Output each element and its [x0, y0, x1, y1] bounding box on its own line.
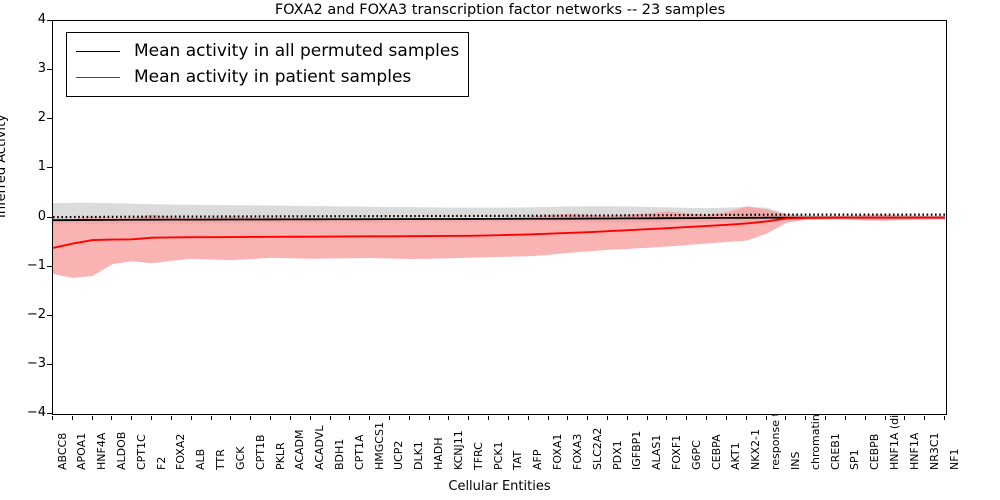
- x-tick-mark: [627, 416, 628, 420]
- y-tick-label: 4: [2, 13, 46, 26]
- x-tick-label: BDH1: [334, 439, 345, 470]
- legend-item-patient: Mean activity in patient samples: [76, 64, 459, 90]
- x-tick-mark: [924, 416, 925, 420]
- x-tick-label: ALB: [195, 449, 206, 470]
- x-tick-label: CPT1C: [136, 434, 147, 470]
- x-tick-mark: [151, 416, 152, 420]
- y-tick-label: −3: [2, 357, 46, 370]
- x-tick-label: ABCC8: [57, 433, 68, 470]
- x-tick-label: AKT1: [730, 442, 741, 470]
- x-tick-label: UCP2: [393, 441, 404, 470]
- x-tick-mark: [488, 416, 489, 420]
- x-tick-mark: [369, 416, 370, 420]
- y-tick-label: 1: [2, 160, 46, 173]
- x-tick-label: FOXA1: [552, 434, 563, 470]
- y-tick-label: −4: [2, 406, 46, 419]
- x-tick-mark: [666, 416, 667, 420]
- x-tick-mark: [191, 416, 192, 420]
- x-tick-label: NKX2-1: [750, 429, 761, 470]
- x-tick-mark: [607, 416, 608, 420]
- x-tick-label: ALDOB: [116, 432, 127, 470]
- x-tick-mark: [885, 416, 886, 420]
- x-tick-label: ACADM: [294, 430, 305, 471]
- x-tick-mark: [290, 416, 291, 420]
- x-tick-mark: [230, 416, 231, 420]
- legend-swatch-permuted: [76, 51, 120, 52]
- x-tick-mark: [349, 416, 350, 420]
- chart-legend: Mean activity in all permuted samples Me…: [66, 32, 469, 97]
- x-tick-mark: [865, 416, 866, 420]
- x-tick-mark: [409, 416, 410, 420]
- x-tick-label: CREB1: [830, 433, 841, 470]
- x-tick-label: G6PC: [691, 440, 702, 470]
- x-tick-label: ALAS1: [651, 435, 662, 470]
- x-tick-label: INS: [790, 452, 801, 470]
- x-tick-label: TFRC: [473, 442, 484, 470]
- x-tick-mark: [171, 416, 172, 420]
- x-tick-label: AFP: [532, 450, 543, 471]
- x-tick-mark: [72, 416, 73, 420]
- y-tick-label: −1: [2, 259, 46, 272]
- x-tick-mark: [548, 416, 549, 420]
- x-tick-label: GCK: [235, 447, 246, 470]
- x-tick-mark: [250, 416, 251, 420]
- x-axis-label: Cellular Entities: [52, 479, 947, 494]
- x-tick-label: PDX1: [612, 440, 623, 470]
- legend-label-patient: Mean activity in patient samples: [134, 67, 411, 87]
- x-tick-mark: [785, 416, 786, 420]
- x-tick-mark: [270, 416, 271, 420]
- x-tick-label: FOXA2: [175, 434, 186, 470]
- y-tick-label: 2: [2, 111, 46, 124]
- x-tick-mark: [567, 416, 568, 420]
- x-tick-label: DLK1: [413, 441, 424, 470]
- x-tick-label: CPT1B: [255, 434, 266, 470]
- x-tick-mark: [528, 416, 529, 420]
- x-tick-mark: [211, 416, 212, 420]
- x-tick-label: HNF1A: [909, 433, 920, 470]
- legend-label-permuted: Mean activity in all permuted samples: [134, 41, 459, 61]
- x-tick-label: TAT: [512, 451, 523, 470]
- y-axis-tick-labels: 43210−1−2−3−4: [0, 0, 46, 500]
- x-tick-label: TTR: [215, 449, 226, 470]
- x-tick-label: PKLR: [275, 442, 286, 470]
- x-tick-label: APOA1: [76, 433, 87, 470]
- x-tick-mark: [131, 416, 132, 420]
- x-tick-mark: [766, 416, 767, 420]
- x-tick-label: HMGCS1: [374, 422, 385, 470]
- x-tick-mark: [587, 416, 588, 420]
- x-tick-mark: [111, 416, 112, 420]
- legend-swatch-patient: [76, 77, 120, 78]
- x-tick-mark: [726, 416, 727, 420]
- x-tick-label: SP1: [849, 449, 860, 470]
- x-tick-mark: [706, 416, 707, 420]
- x-tick-mark: [825, 416, 826, 420]
- x-tick-label: F2: [156, 457, 167, 470]
- x-tick-mark: [944, 416, 945, 420]
- x-tick-mark: [468, 416, 469, 420]
- x-tick-label: CEBPB: [869, 434, 880, 470]
- x-tick-mark: [508, 416, 509, 420]
- x-tick-label: KCNJ11: [453, 430, 464, 470]
- x-tick-label: CPT1A: [354, 434, 365, 470]
- y-tick-label: −2: [2, 308, 46, 321]
- x-tick-mark: [647, 416, 648, 420]
- x-tick-label: NF1: [949, 448, 960, 470]
- y-tick-label: 0: [2, 210, 46, 223]
- x-tick-mark: [805, 416, 806, 420]
- x-tick-mark: [310, 416, 311, 420]
- x-tick-label: CEBPA: [711, 434, 722, 470]
- x-tick-mark: [746, 416, 747, 420]
- x-tick-mark: [92, 416, 93, 420]
- x-tick-mark: [904, 416, 905, 420]
- x-tick-label: HADH: [433, 437, 444, 470]
- x-tick-mark: [429, 416, 430, 420]
- x-tick-label: FOXF1: [671, 435, 682, 470]
- x-tick-label: PCK1: [493, 441, 504, 470]
- x-tick-mark: [686, 416, 687, 420]
- x-tick-label: NR3C1: [929, 432, 940, 470]
- chart-title: FOXA2 and FOXA3 transcription factor net…: [0, 0, 1000, 20]
- legend-item-permuted: Mean activity in all permuted samples: [76, 38, 459, 64]
- x-tick-label: IGFBP1: [631, 431, 642, 470]
- x-tick-mark: [52, 416, 53, 420]
- x-tick-mark: [330, 416, 331, 420]
- x-tick-mark: [448, 416, 449, 420]
- x-tick-mark: [389, 416, 390, 420]
- chart-figure: FOXA2 and FOXA3 transcription factor net…: [0, 0, 1000, 500]
- x-tick-label: SLC2A2: [592, 428, 603, 470]
- x-tick-label: ACADVL: [314, 426, 325, 470]
- x-tick-mark: [845, 416, 846, 420]
- x-tick-label: FOXA3: [572, 434, 583, 470]
- y-tick-label: 3: [2, 62, 46, 75]
- x-tick-label: HNF4A: [96, 433, 107, 470]
